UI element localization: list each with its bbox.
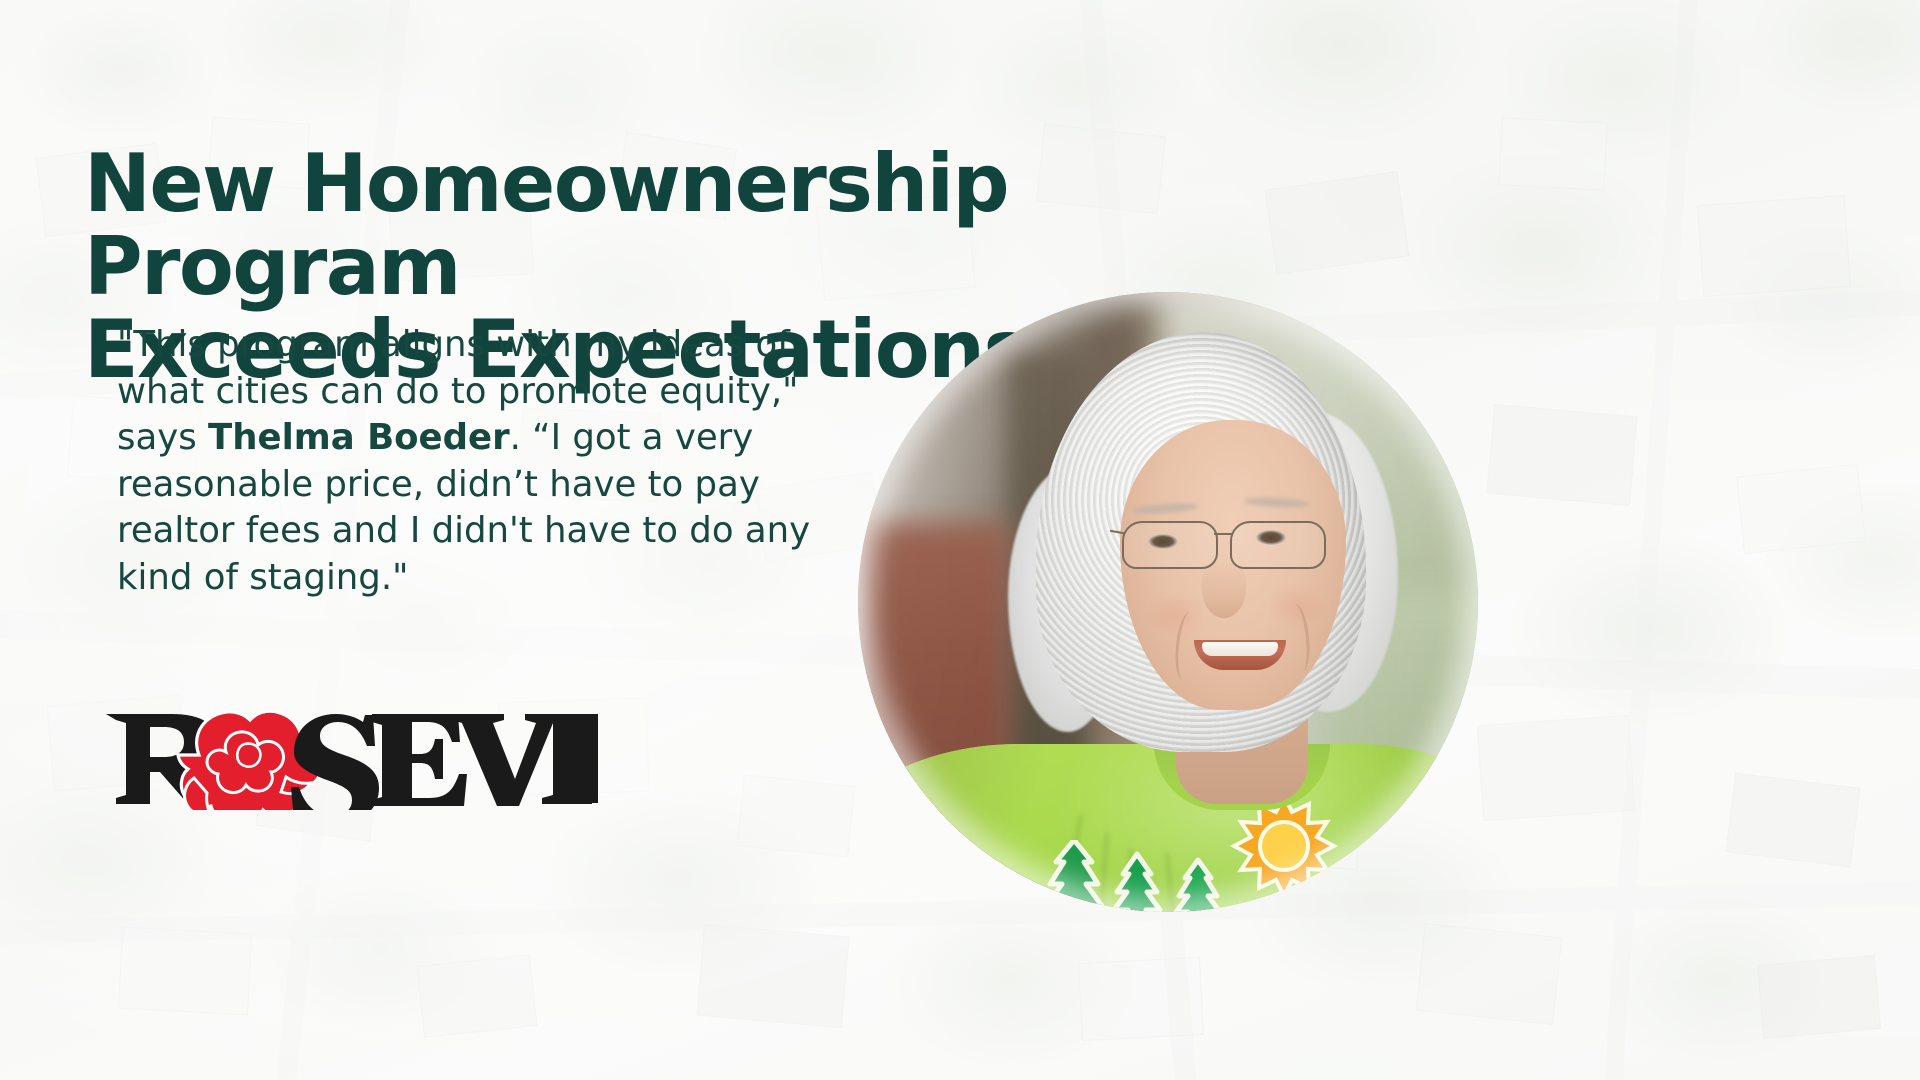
logo-wordmark-seville (291, 714, 598, 810)
promo-graphic-canvas: New Homeownership Program Exceeds Expect… (0, 0, 1920, 1080)
eyeglasses (1110, 517, 1360, 573)
quote-attribution-name: Thelma Boeder (208, 417, 510, 458)
roseville-logo (98, 700, 598, 810)
pine-trees-icon (1016, 840, 1246, 912)
portrait-photo (858, 292, 1478, 912)
pull-quote: "This program aligns with my ideas of wh… (117, 322, 857, 601)
